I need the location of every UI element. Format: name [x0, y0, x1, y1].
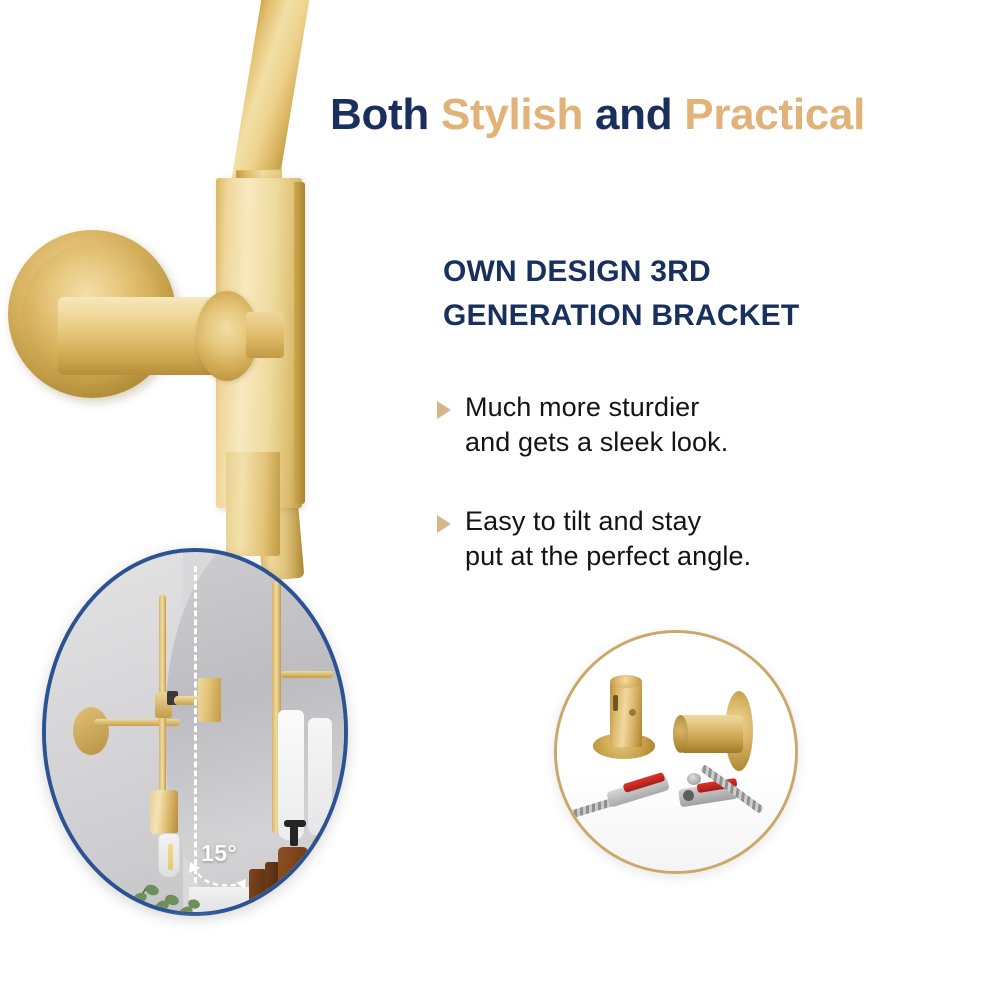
sconce-wall-plate-icon [73, 707, 109, 755]
screw-head-icon [687, 773, 701, 785]
headline-part-and: and [595, 90, 684, 139]
subheading-line-2: GENERATION BRACKET [443, 294, 943, 338]
headline-part-stylish: Stylish [441, 90, 595, 139]
dispenser-pump-icon [290, 826, 298, 846]
sconce-socket-icon [150, 790, 178, 834]
triangle-right-icon [437, 401, 451, 419]
bullet-1-line-1: Much more sturdier [465, 392, 699, 422]
headline-part-both: Both [330, 90, 441, 139]
bottom-fade [0, 910, 1000, 1000]
bathroom-scene-circle: 15° [42, 548, 348, 916]
hardware-detail-circle [554, 630, 798, 874]
bullet-text: Easy to tilt and stay put at the perfect… [465, 504, 751, 574]
bullet-2-line-1: Easy to tilt and stay [465, 506, 701, 536]
amber-dropper-bottle-icon [249, 869, 266, 903]
hardware-detail-content [557, 633, 795, 871]
bracket-post-stub-icon [246, 312, 284, 358]
subheading: OWN DESIGN 3RD GENERATION BRACKET [443, 250, 943, 338]
triangle-right-icon [437, 515, 451, 533]
amber-soap-dispenser-icon [278, 847, 308, 901]
list-item: Easy to tilt and stay put at the perfect… [437, 504, 917, 574]
bracket-post-slot-icon [613, 695, 618, 711]
sconce-arm-icon [94, 719, 180, 726]
bracket-post-side-cap-icon [673, 715, 688, 753]
towel-rack-arm-icon [281, 671, 333, 678]
headline-part-practical: Practical [684, 90, 865, 139]
hero-product-image [0, 0, 400, 580]
bullet-text: Much more sturdier and gets a sleek look… [465, 390, 728, 460]
bracket-plate-edge-icon [294, 182, 305, 504]
page-title: Both Stylish and Practical [330, 92, 990, 138]
list-item: Much more sturdier and gets a sleek look… [437, 390, 917, 460]
dispenser-pump-head-icon [284, 820, 306, 827]
bracket-set-screw-icon [629, 709, 636, 716]
product-infographic: Both Stylish and Practical OWN DESIGN 3R… [0, 0, 1000, 1000]
bracket-plate-step-icon [226, 452, 280, 556]
tilt-bracket-icon [198, 678, 221, 722]
bathroom-scene-content: 15° [46, 552, 344, 912]
bracket-post-side-icon [679, 715, 743, 753]
feature-bullet-list: Much more sturdier and gets a sleek look… [437, 390, 917, 618]
subheading-line-1: OWN DESIGN 3RD [443, 250, 943, 294]
bullet-2-line-2: put at the perfect angle. [465, 541, 751, 571]
bullet-1-line-2: and gets a sleek look. [465, 427, 728, 457]
bracket-post-upright-icon [610, 681, 642, 747]
white-towel-icon [308, 718, 332, 837]
screw-head-icon [561, 816, 576, 829]
bracket-post-top-icon [610, 675, 642, 688]
wall-anchor-bore-icon [683, 790, 694, 801]
vertical-reference-line-icon [194, 566, 197, 883]
tilt-angle-label: 15° [201, 840, 237, 867]
